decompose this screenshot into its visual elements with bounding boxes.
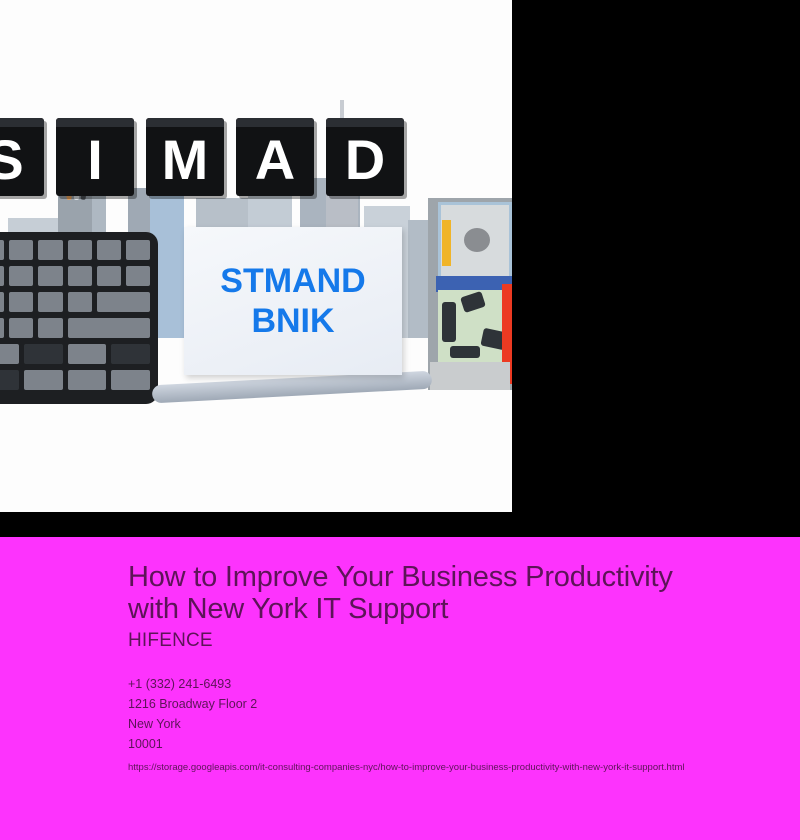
divider-bar <box>0 512 800 537</box>
keyboard-key <box>68 292 92 312</box>
keyboard-key <box>97 240 121 260</box>
letter-block: I <box>56 118 134 196</box>
source-url[interactable]: https://storage.googleapis.com/it-consul… <box>128 760 790 776</box>
page-title: How to Improve Your Business Productivit… <box>128 561 698 626</box>
letter-block-glyph: A <box>236 118 314 196</box>
keyboard-row <box>0 266 150 286</box>
keyboard-key <box>24 344 63 364</box>
stylus-pen <box>152 371 433 404</box>
contact-phone: +1 (332) 241-6493 <box>128 674 790 694</box>
open-folder <box>428 198 512 390</box>
keyboard-key <box>38 266 62 286</box>
hero-scene: S I M A D <box>0 0 512 512</box>
keyboard-key <box>38 240 62 260</box>
folder-item <box>442 302 456 342</box>
keyboard-key <box>9 318 33 338</box>
keyboard-icon <box>0 232 158 404</box>
keyboard-key <box>126 240 150 260</box>
info-panel-content: How to Improve Your Business Productivit… <box>128 561 790 776</box>
contact-street: 1216 Broadway Floor 2 <box>128 694 790 714</box>
keyboard-key <box>68 344 107 364</box>
keyboard-key <box>68 370 107 390</box>
folder-base <box>430 362 510 390</box>
keyboard-key <box>0 266 4 286</box>
page-root: S I M A D <box>0 0 800 840</box>
contact-city: New York <box>128 714 790 734</box>
sign-card-line: STMAND <box>220 262 365 300</box>
keyboard-key <box>111 370 150 390</box>
keyboard-key <box>97 266 121 286</box>
letter-block-glyph: S <box>0 118 44 196</box>
letter-block-row: S I M A D <box>0 118 404 196</box>
keyboard-key <box>38 318 62 338</box>
keyboard-key <box>9 240 33 260</box>
folder-item <box>460 291 486 313</box>
info-panel: How to Improve Your Business Productivit… <box>0 537 800 840</box>
letter-block-glyph: D <box>326 118 404 196</box>
keyboard-key <box>9 266 33 286</box>
keyboard-key <box>0 344 19 364</box>
folder-contents <box>438 290 510 362</box>
keyboard-key <box>0 292 4 312</box>
keyboard-row <box>0 344 150 364</box>
letter-block: A <box>236 118 314 196</box>
keyboard-key <box>38 292 62 312</box>
keyboard-row <box>0 318 150 338</box>
folder-dot <box>464 228 490 252</box>
contact-zip: 10001 <box>128 734 790 754</box>
keyboard-row <box>0 370 150 390</box>
hero-image: S I M A D <box>0 0 512 512</box>
keyboard-key <box>97 292 150 312</box>
keyboard-key <box>9 292 33 312</box>
keyboard-key <box>24 370 63 390</box>
keyboard-key <box>0 240 4 260</box>
keyboard-key <box>111 344 150 364</box>
keyboard-row <box>0 240 150 260</box>
keyboard-key <box>0 370 19 390</box>
contact-list: +1 (332) 241-6493 1216 Broadway Floor 2 … <box>128 674 790 754</box>
keyboard-key <box>68 318 150 338</box>
folder-item <box>450 346 480 358</box>
folder-yellow-tab <box>442 220 451 266</box>
brand-name: HIFENCE <box>128 630 790 652</box>
letter-block-glyph: M <box>146 118 224 196</box>
sign-card: STMAND BNIK <box>184 227 402 375</box>
letter-block: D <box>326 118 404 196</box>
letter-block-glyph: I <box>56 118 134 196</box>
keyboard-key <box>68 266 92 286</box>
keyboard-row <box>0 292 150 312</box>
keyboard-key <box>68 240 92 260</box>
keyboard-key <box>126 266 150 286</box>
letter-block: S <box>0 118 44 196</box>
keyboard-key <box>0 318 4 338</box>
sign-card-line: BNIK <box>251 302 334 340</box>
letter-block: M <box>146 118 224 196</box>
